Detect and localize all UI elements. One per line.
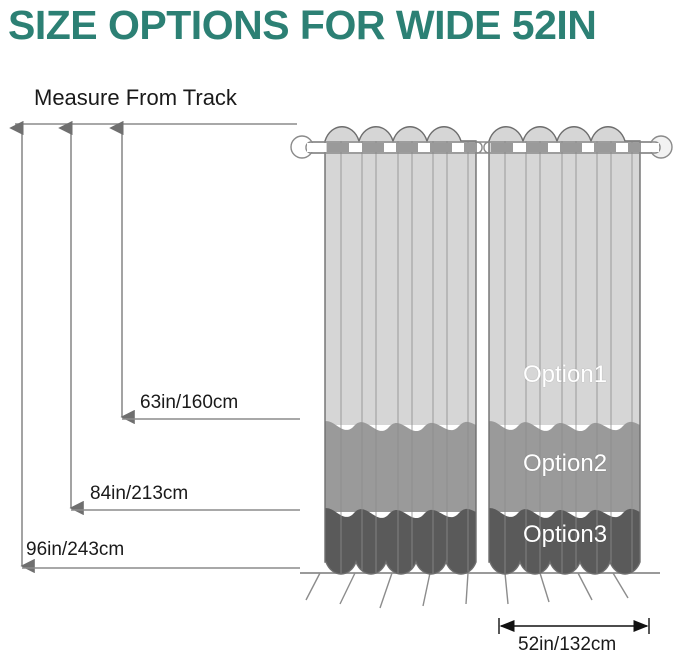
dimension-label-width: 52in/132cm [518, 634, 616, 656]
diagram-svg [0, 0, 679, 660]
option2-label: Option2 [523, 450, 607, 478]
dimension-label-84in: 84in/213cm [90, 483, 188, 505]
dimension-arrow-63 [122, 128, 300, 419]
option1-label: Option1 [523, 361, 607, 389]
dimension-label-96in: 96in/243cm [26, 539, 124, 561]
dimension-label-63in: 63in/160cm [140, 392, 238, 414]
option3-label: Option3 [523, 521, 607, 549]
dimension-arrow-84 [71, 128, 300, 510]
floor-plane [300, 573, 660, 608]
diagram-canvas: SIZE OPTIONS FOR WIDE 52IN Measure From … [0, 0, 679, 660]
dimension-arrow-width [499, 618, 649, 634]
curtain-panel-left [306, 115, 482, 582]
curtain-panel-right [484, 115, 660, 582]
